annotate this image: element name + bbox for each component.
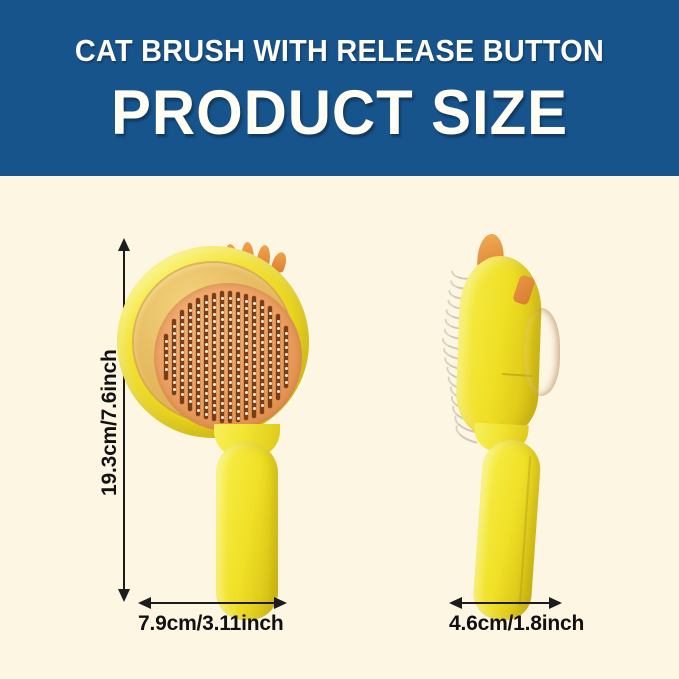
bristle-pin	[213, 299, 216, 302]
bristle-pin	[245, 307, 248, 310]
bristle-pin	[213, 355, 216, 358]
bristle-pin	[181, 379, 184, 382]
bristle-pin	[285, 367, 288, 370]
bristle-pin	[221, 381, 224, 384]
bristle-pin	[205, 392, 208, 395]
bristle-pin	[213, 327, 216, 330]
bristle-pin	[213, 397, 216, 400]
bristle-pin	[277, 390, 280, 393]
bristle-pin	[181, 330, 184, 333]
bristle-pin	[277, 355, 280, 358]
bristle-pin	[221, 311, 224, 314]
bristle-pin	[253, 316, 256, 319]
front-width-dimension-line	[149, 602, 277, 604]
bristle-pin	[269, 375, 272, 378]
bristle-pin	[245, 349, 248, 352]
bristle-pin	[189, 337, 192, 340]
bristle-pin	[221, 346, 224, 349]
bristle-pin	[245, 363, 248, 366]
bristle-pin	[213, 313, 216, 316]
bristle-pin	[189, 372, 192, 375]
brush-head-shell	[117, 246, 309, 438]
bristle-pin	[205, 399, 208, 402]
bristle-pin	[237, 298, 240, 301]
bristle-pin	[205, 385, 208, 388]
bristle-pin	[181, 323, 184, 326]
bristle-pin	[269, 347, 272, 350]
bristle-pin	[245, 412, 248, 415]
bristle-pin	[269, 382, 272, 385]
bristle-pin	[197, 353, 200, 356]
bristle-pin	[237, 396, 240, 399]
bristle-pin	[253, 400, 256, 403]
bristle-pin	[285, 346, 288, 349]
bristle-pin	[237, 403, 240, 406]
bristle-pin	[205, 350, 208, 353]
bristle-pin	[221, 304, 224, 307]
bristle-pin	[245, 335, 248, 338]
bristle-pin	[181, 316, 184, 319]
bristle-pin	[229, 353, 232, 356]
bristle-pin	[221, 339, 224, 342]
bristle-pin	[197, 367, 200, 370]
bristle-pin	[181, 358, 184, 361]
page-title: PRODUCT SIZE	[111, 82, 568, 145]
bristle-pin	[285, 339, 288, 342]
brush-head-ring	[132, 261, 294, 423]
bristle-pin	[197, 395, 200, 398]
bristle-pin	[269, 312, 272, 315]
side-width-arrow-right-icon	[549, 597, 562, 609]
bristle-pin	[245, 328, 248, 331]
bristle-pin	[277, 341, 280, 344]
bristle-pin	[205, 364, 208, 367]
bristle-pin	[213, 341, 216, 344]
bristle-pin	[173, 374, 176, 377]
bristle-pin	[237, 340, 240, 343]
bristle-pin	[229, 332, 232, 335]
bristle-pin	[229, 311, 232, 314]
bristle-pin	[269, 333, 272, 336]
bristle-pin	[221, 332, 224, 335]
bristle-pin	[237, 305, 240, 308]
bristle-pin	[213, 404, 216, 407]
bristle-pin	[221, 318, 224, 321]
bristle-pin	[213, 390, 216, 393]
bristle-pin	[237, 417, 240, 420]
bristle-pin	[245, 356, 248, 359]
bristle-pin	[173, 339, 176, 342]
bristle-pin	[285, 360, 288, 363]
bristle-pin	[189, 351, 192, 354]
bristle-pin	[269, 389, 272, 392]
product-title: CAT BRUSH WITH RELEASE BUTTON	[75, 35, 604, 66]
bristle-pin	[189, 344, 192, 347]
bristle-pin	[253, 365, 256, 368]
bristle-pin	[245, 398, 248, 401]
brush-handle	[216, 442, 278, 620]
bristle-pin	[277, 327, 280, 330]
bristle-pin	[285, 381, 288, 384]
bristle-pin	[221, 374, 224, 377]
bristle-pin	[197, 360, 200, 363]
bristle-pin	[229, 367, 232, 370]
bristle-pin	[189, 379, 192, 382]
bristle-pin	[205, 322, 208, 325]
bristle-pin	[205, 315, 208, 318]
bristle-pin	[197, 318, 200, 321]
bristle-pin	[213, 320, 216, 323]
bristle-pin	[205, 329, 208, 332]
bristle-pin	[181, 393, 184, 396]
bristle-pin	[277, 383, 280, 386]
bristle-pin	[173, 325, 176, 328]
bristle-pin	[205, 343, 208, 346]
bristle-pin	[277, 320, 280, 323]
bristle-pin	[181, 372, 184, 375]
bristle-pin	[237, 361, 240, 364]
bristle-pin	[229, 318, 232, 321]
brush-front-view	[117, 228, 377, 628]
bristle-pin	[189, 358, 192, 361]
bristle-pin	[253, 323, 256, 326]
bristle-pin	[245, 314, 248, 317]
bristle-pin	[221, 367, 224, 370]
bristle-pin	[189, 316, 192, 319]
bristle-pin	[197, 311, 200, 314]
bristle-pin	[213, 383, 216, 386]
bristle-pin	[197, 381, 200, 384]
bristle-pin	[245, 384, 248, 387]
bristle-pin	[245, 391, 248, 394]
side-width-dimension-label: 4.6cm/1.8inch	[449, 612, 584, 636]
bristle-pin	[229, 381, 232, 384]
bristle-pin	[253, 407, 256, 410]
bristle-pin	[197, 388, 200, 391]
bristle-pin	[205, 336, 208, 339]
bristle-pin	[205, 378, 208, 381]
bristle-pin	[253, 393, 256, 396]
bristle-pin	[245, 405, 248, 408]
bristle-pin	[253, 302, 256, 305]
bristle-pin	[245, 321, 248, 324]
bristle-pin	[213, 306, 216, 309]
bristle-pin	[229, 304, 232, 307]
bristle-pin	[277, 376, 280, 379]
bristle-pin	[221, 395, 224, 398]
bristle-pin	[253, 358, 256, 361]
bristle-pin	[277, 362, 280, 365]
bristle-pin	[237, 382, 240, 385]
bristle-pin	[245, 377, 248, 380]
bristle-pin	[269, 326, 272, 329]
bristle-pin	[277, 334, 280, 337]
product-size-infographic: CAT BRUSH WITH RELEASE BUTTON PRODUCT SI…	[0, 0, 679, 679]
brush-handle-side	[472, 438, 542, 622]
bristle-pin	[173, 332, 176, 335]
bristle-pin	[269, 340, 272, 343]
bristle-pin	[197, 325, 200, 328]
bristle-pin	[189, 400, 192, 403]
bristle-pin	[213, 334, 216, 337]
bristle-pin	[181, 351, 184, 354]
bristle-pin	[237, 312, 240, 315]
bristle-pin	[253, 337, 256, 340]
bristle-pin	[253, 379, 256, 382]
bristle-pin	[205, 357, 208, 360]
bristle-pin	[197, 332, 200, 335]
bristle-pin	[189, 393, 192, 396]
bristle-pin	[237, 347, 240, 350]
bristle-pin	[221, 325, 224, 328]
bristle-pin	[237, 410, 240, 413]
bristle-pin	[221, 360, 224, 363]
bristle-pin	[237, 319, 240, 322]
bristle-pin	[205, 301, 208, 304]
bristle-pin	[205, 371, 208, 374]
release-button[interactable]	[524, 308, 560, 396]
bristle-pin	[181, 344, 184, 347]
bristle-pin	[173, 353, 176, 356]
bristle-pin	[189, 330, 192, 333]
bristle-pin	[229, 346, 232, 349]
bristle-pin	[229, 409, 232, 412]
bristle-pin	[237, 389, 240, 392]
bristle-pin	[205, 308, 208, 311]
bristle-pin	[173, 360, 176, 363]
bristle-pin	[213, 369, 216, 372]
bristle-pin	[205, 406, 208, 409]
bristle-pin	[229, 416, 232, 419]
bristle-pin	[173, 367, 176, 370]
bristle-pin	[189, 386, 192, 389]
bristle-pin	[285, 374, 288, 377]
bristle-pin	[205, 413, 208, 416]
bristle-pin	[173, 346, 176, 349]
bristle-slot	[196, 298, 200, 416]
header-banner: CAT BRUSH WITH RELEASE BUTTON PRODUCT SI…	[0, 0, 679, 176]
bristle-pin	[245, 370, 248, 373]
bristle-pin	[197, 304, 200, 307]
bristle-pin	[181, 365, 184, 368]
bristle-pin	[253, 351, 256, 354]
bristle-pin	[229, 388, 232, 391]
bristle-pin	[229, 297, 232, 300]
bristle-pin	[197, 409, 200, 412]
bristle-pin	[253, 344, 256, 347]
front-width-dimension-label: 7.9cm/3.11inch	[138, 612, 283, 636]
front-width-arrow-right-icon	[274, 597, 287, 609]
diagram-stage: 19.3cm/7.6inch	[0, 176, 679, 679]
bristle-pin	[253, 309, 256, 312]
bristle-pin	[229, 395, 232, 398]
bristle-pin	[285, 332, 288, 335]
bristle-pin	[173, 381, 176, 384]
bristle-pin	[189, 323, 192, 326]
bristle-pin	[173, 388, 176, 391]
bristle-pin	[213, 362, 216, 365]
bristle-pin	[229, 360, 232, 363]
bristle-pin	[221, 388, 224, 391]
bristle-pin	[269, 319, 272, 322]
bristle-pin	[229, 339, 232, 342]
side-width-dimension-line	[460, 602, 552, 604]
bristle-pin	[189, 365, 192, 368]
bristle-pin	[197, 402, 200, 405]
bristle-pin	[237, 333, 240, 336]
bristle-pin	[253, 386, 256, 389]
bristle-pin	[285, 353, 288, 356]
bristle-pin	[221, 402, 224, 405]
bristle-pin	[197, 346, 200, 349]
bristle-pin	[197, 374, 200, 377]
bristle-pin	[237, 368, 240, 371]
bristle-pin	[253, 372, 256, 375]
bristle-pin	[213, 411, 216, 414]
bristle-pin	[237, 375, 240, 378]
bristle-pin	[253, 330, 256, 333]
bristle-pin	[269, 368, 272, 371]
bristle-pin	[269, 361, 272, 364]
bristle-pin	[277, 348, 280, 351]
bristle-pin	[213, 376, 216, 379]
brush-side-view	[432, 234, 632, 634]
bristle-pin	[221, 297, 224, 300]
bristle-pin	[269, 396, 272, 399]
bristle-pin	[221, 353, 224, 356]
bristle-pin	[229, 374, 232, 377]
bristle-pin	[221, 409, 224, 412]
bristle-pin	[237, 354, 240, 357]
bristle-pin	[269, 354, 272, 357]
bristle-pin	[229, 325, 232, 328]
bristle-pin	[181, 386, 184, 389]
bristle-pin	[237, 326, 240, 329]
bristle-pin	[277, 369, 280, 372]
bristle-pad	[154, 283, 302, 431]
bristle-pin	[197, 339, 200, 342]
bristle-pin	[245, 342, 248, 345]
bristle-pin	[181, 337, 184, 340]
bristle-pin	[213, 348, 216, 351]
bristle-pin	[221, 416, 224, 419]
bristle-pin	[229, 402, 232, 405]
bristle-pin	[189, 309, 192, 312]
bristle-slot	[284, 326, 288, 389]
bristle-pin	[245, 300, 248, 303]
